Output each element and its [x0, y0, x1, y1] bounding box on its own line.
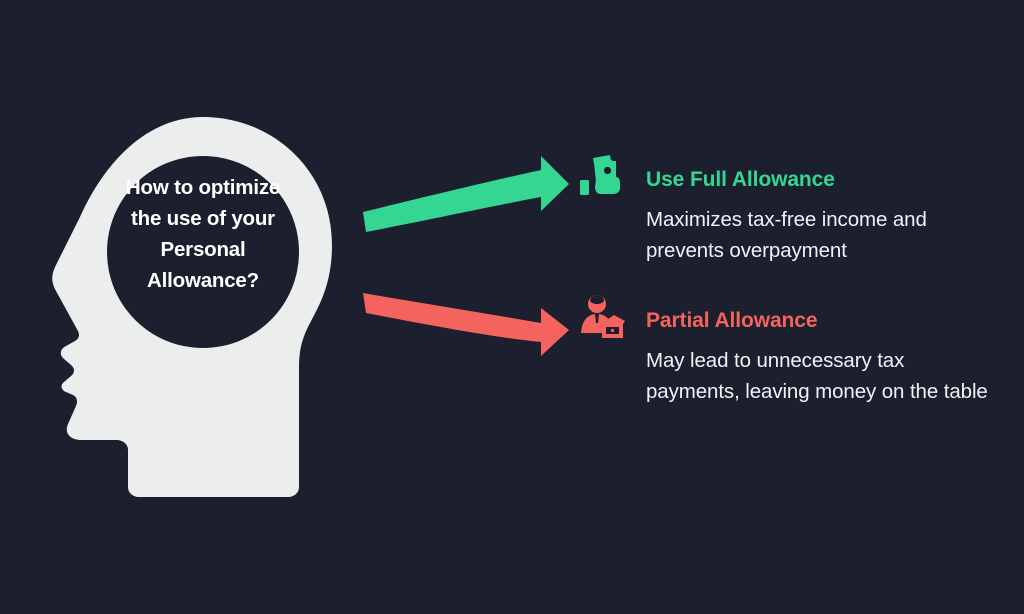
branch-negative-body: May lead to unnecessary tax payments, le…	[646, 345, 994, 407]
branch-positive-heading: Use Full Allowance	[646, 168, 835, 192]
person-with-wallet-icon	[578, 293, 626, 341]
arrow-to-negative	[363, 293, 569, 356]
infographic-canvas: How to optimize the use of your Personal…	[0, 0, 1024, 614]
branch-positive-body: Maximizes tax-free income and prevents o…	[646, 204, 994, 266]
branch-negative-heading: Partial Allowance	[646, 309, 817, 333]
head-profile-silhouette	[20, 95, 360, 515]
center-question-text: How to optimize the use of your Personal…	[113, 172, 293, 296]
arrow-to-positive	[363, 156, 569, 232]
hand-holding-money-icon	[578, 152, 626, 200]
